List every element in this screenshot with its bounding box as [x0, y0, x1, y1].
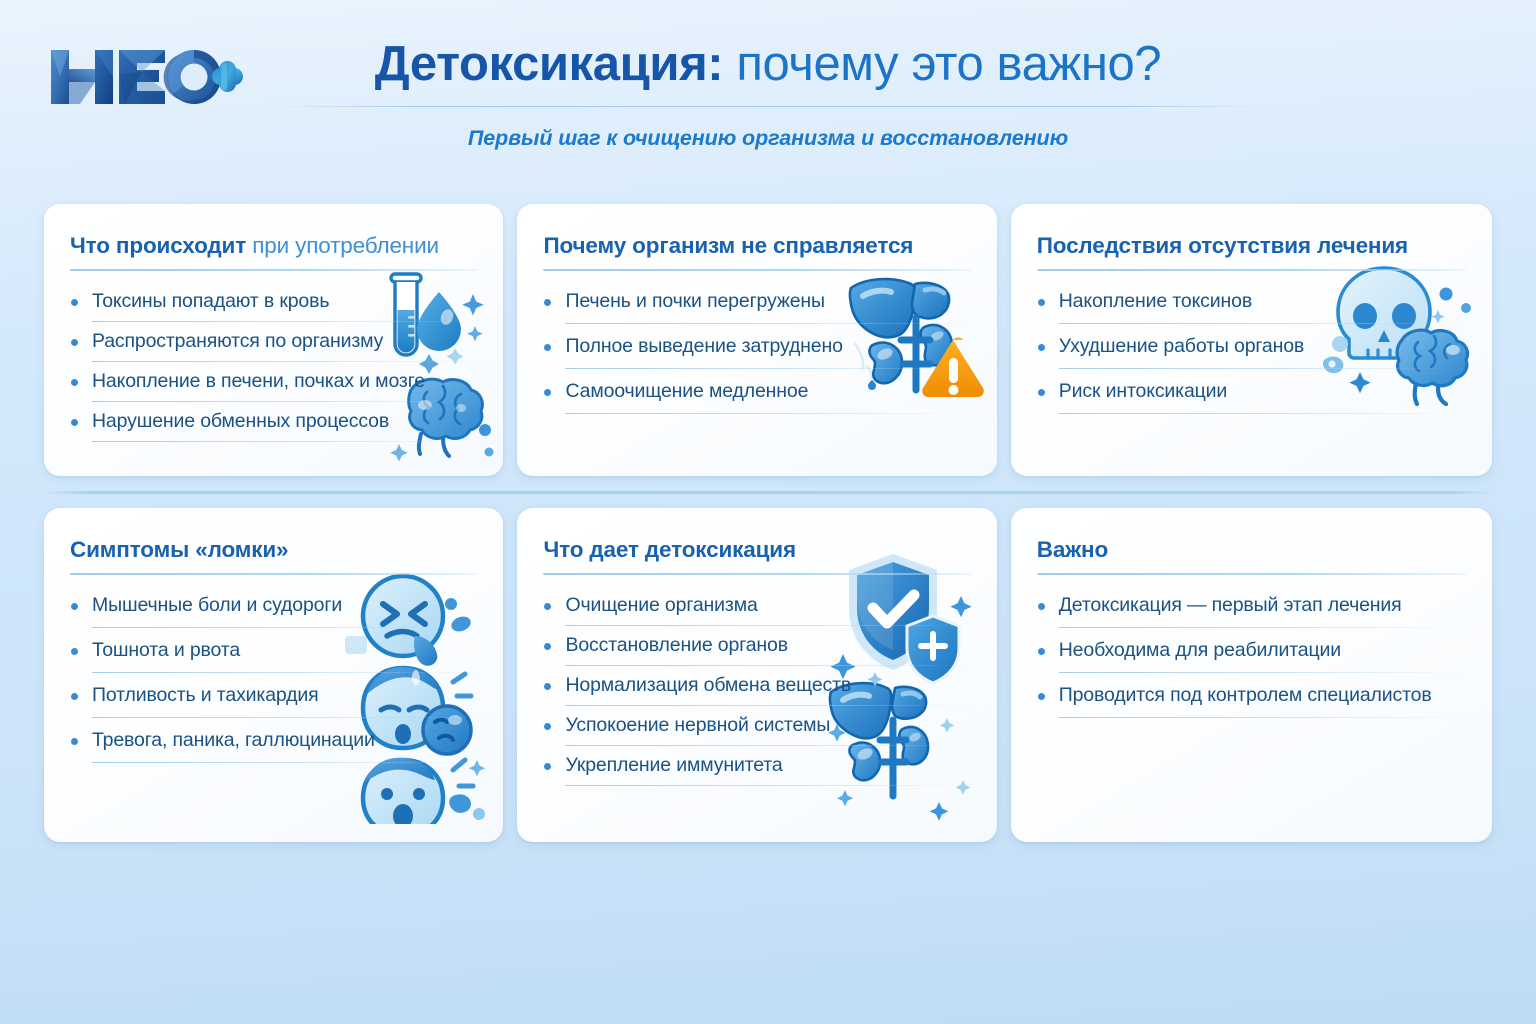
card-title-divider [70, 269, 477, 271]
card-title: Почему организм не справляется [543, 232, 970, 260]
card-detox-benefits[interactable]: Что дает детоксикация Очищение организма… [517, 508, 996, 842]
page-title-light: почему это важно? [723, 37, 1161, 91]
bullet-list: Печень и почки перегружены Полное выведе… [543, 288, 970, 414]
card-title-strong: Что происходит [70, 233, 246, 258]
list-item: Токсины попадают в кровь [70, 288, 477, 322]
list-item: Мышечные боли и судороги [70, 592, 477, 628]
list-item: Восстановление органов [543, 632, 970, 666]
page-header: Детоксикация: почему это важно? Первый ш… [0, 0, 1536, 180]
cards-row-bottom: Симптомы «ломки» Мышечные боли и судорог… [0, 508, 1536, 842]
bullet-list: Очищение организма Восстановление органо… [543, 592, 970, 786]
card-title-light: при употреблении [246, 233, 439, 258]
bullet-list: Мышечные боли и судороги Тошнота и рвота… [70, 592, 477, 763]
card-title-divider [1037, 573, 1466, 575]
list-item: Накопление токсинов [1037, 288, 1466, 324]
card-title-strong: Что дает детоксикация [543, 537, 796, 562]
list-item: Печень и почки перегружены [543, 288, 970, 324]
list-item: Накопление в печени, почках и мозге [70, 368, 477, 402]
card-what-happens[interactable]: Что происходит при употреблении Токсины … [44, 204, 503, 476]
list-item: Детоксикация — первый этап лечения [1037, 592, 1466, 628]
list-item: Риск интоксикации [1037, 378, 1466, 414]
page-title-strong: Детоксикация: [375, 37, 723, 91]
list-item: Проводится под контролем специалистов [1037, 682, 1466, 718]
card-title-strong: Последствия отсутствия лечения [1037, 233, 1408, 258]
card-title-divider [543, 269, 970, 271]
card-important[interactable]: Важно Детоксикация — первый этап лечения… [1011, 508, 1492, 842]
page-subtitle: Первый шаг к очищению организма и восста… [268, 126, 1268, 151]
title-divider [273, 106, 1263, 107]
bullet-list: Токсины попадают в кровь Распространяютс… [70, 288, 477, 442]
logo-letter-h [51, 50, 113, 104]
card-why-body-fails[interactable]: Почему организм не справляется Печень и … [517, 204, 996, 476]
bullet-list: Накопление токсинов Ухудшение работы орг… [1037, 288, 1466, 414]
list-item: Тревога, паника, галлюцинации [70, 727, 477, 763]
card-title-strong: Важно [1037, 537, 1108, 562]
cards-grid: Что происходит при употреблении Токсины … [0, 204, 1536, 842]
list-item: Ухудшение работы органов [1037, 333, 1466, 369]
list-item: Полное выведение затруднено [543, 333, 970, 369]
card-title-divider [543, 573, 970, 575]
card-title: Симптомы «ломки» [70, 536, 477, 564]
card-title-strong: Симптомы «ломки» [70, 537, 288, 562]
cards-row-top: Что происходит при употреблении Токсины … [0, 204, 1536, 476]
card-withdrawal-symptoms[interactable]: Симптомы «ломки» Мышечные боли и судорог… [44, 508, 503, 842]
card-title-divider [1037, 269, 1466, 271]
list-item: Самоочищение медленное [543, 378, 970, 414]
title-block: Детоксикация: почему это важно? Первый ш… [268, 34, 1268, 151]
logo-letter-e [119, 50, 165, 104]
list-item: Необходима для реабилитации [1037, 637, 1466, 673]
card-title-strong: Почему организм не справляется [543, 233, 913, 258]
neo-plus-logo [47, 44, 245, 110]
bullet-list: Детоксикация — первый этап лечения Необх… [1037, 592, 1466, 718]
card-title: Последствия отсутствия лечения [1037, 232, 1466, 260]
card-title: Важно [1037, 536, 1466, 564]
card-title-divider [70, 573, 477, 575]
card-title: Что дает детоксикация [543, 536, 970, 564]
page-title: Детоксикация: почему это важно? [268, 34, 1268, 94]
card-title: Что происходит при употреблении [70, 232, 477, 260]
list-item: Потливость и тахикардия [70, 682, 477, 718]
list-item: Успокоение нервной системы [543, 712, 970, 746]
list-item: Очищение организма [543, 592, 970, 626]
list-item: Нормализация обмена веществ [543, 672, 970, 706]
row-divider [42, 491, 1495, 494]
list-item: Укрепление иммунитета [543, 752, 970, 786]
list-item: Распространяются по организму [70, 328, 477, 362]
list-item: Нарушение обменных процессов [70, 408, 477, 442]
card-consequences[interactable]: Последствия отсутствия лечения Накоплени… [1011, 204, 1492, 476]
list-item: Тошнота и рвота [70, 637, 477, 673]
